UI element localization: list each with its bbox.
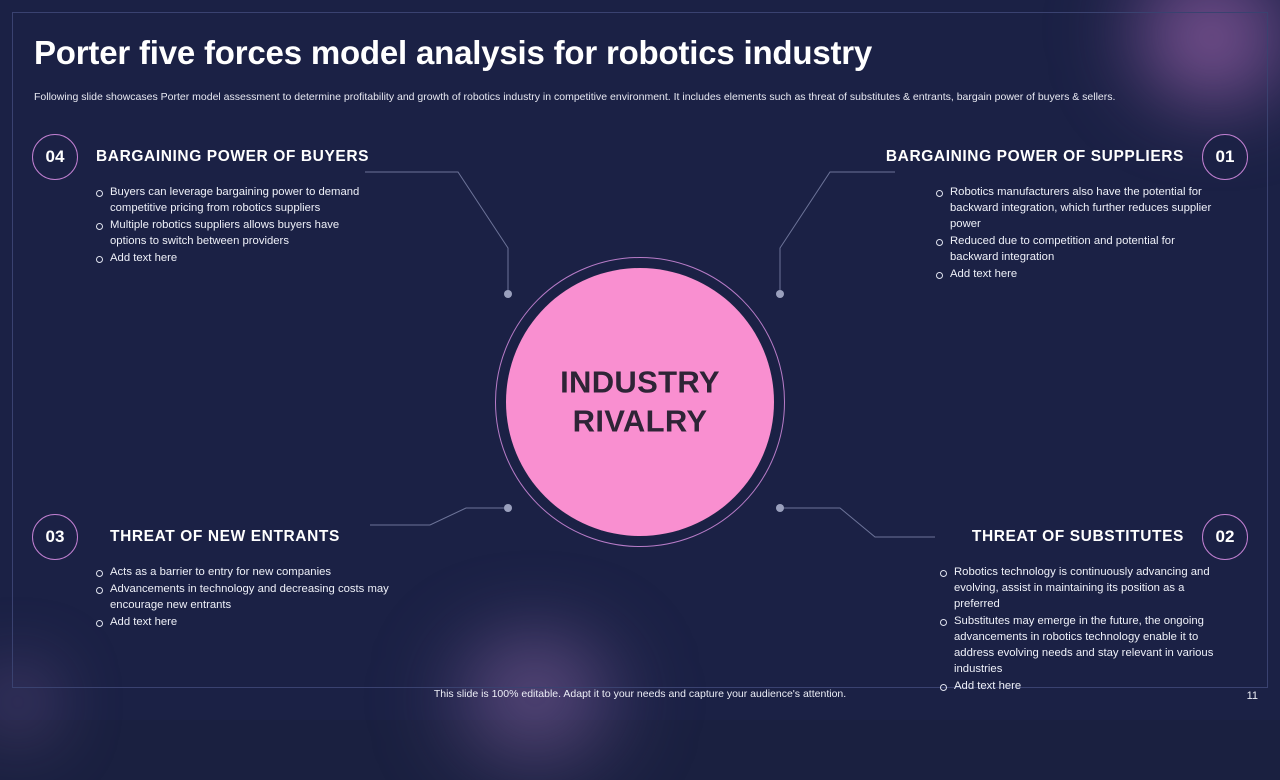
page-subtitle: Following slide showcases Porter model a…: [34, 90, 1224, 104]
badge-buyers: 04: [32, 134, 78, 180]
badge-buyers-number: 04: [46, 147, 65, 167]
list-item: Acts as a barrier to entry for new compa…: [94, 564, 424, 580]
section-title-substitutes: THREAT OF SUBSTITUTES: [972, 528, 1184, 546]
slide-root: Porter five forces model analysis for ro…: [0, 0, 1280, 720]
footer-note: This slide is 100% editable. Adapt it to…: [0, 688, 1280, 700]
badge-substitutes: 02: [1202, 514, 1248, 560]
list-item: Add text here: [934, 266, 1222, 282]
bullet-list-substitutes: Robotics technology is continuously adva…: [938, 564, 1228, 695]
bullet-list-buyers: Buyers can leverage bargaining power to …: [94, 184, 366, 267]
section-title-suppliers: BARGAINING POWER OF SUPPLIERS: [886, 148, 1184, 166]
section-title-buyers: BARGAINING POWER OF BUYERS: [96, 148, 369, 166]
list-item: Robotics manufacturers also have the pot…: [934, 184, 1222, 232]
page-title: Porter five forces model analysis for ro…: [34, 34, 872, 72]
bullet-list-entrants: Acts as a barrier to entry for new compa…: [94, 564, 424, 631]
industry-rivalry-center: INDUSTRY RIVALRY: [495, 257, 785, 547]
page-number: 11: [1247, 690, 1258, 702]
list-item: Buyers can leverage bargaining power to …: [94, 184, 366, 216]
section-title-entrants: THREAT OF NEW ENTRANTS: [110, 528, 340, 546]
list-item: Reduced due to competition and potential…: [934, 233, 1222, 265]
list-item: Add text here: [94, 250, 366, 266]
list-item: Robotics technology is continuously adva…: [938, 564, 1228, 612]
bullet-list-suppliers: Robotics manufacturers also have the pot…: [934, 184, 1222, 283]
badge-entrants: 03: [32, 514, 78, 560]
badge-suppliers-number: 01: [1216, 147, 1235, 167]
list-item: Substitutes may emerge in the future, th…: [938, 613, 1228, 677]
badge-substitutes-number: 02: [1216, 527, 1235, 547]
badge-suppliers: 01: [1202, 134, 1248, 180]
list-item: Advancements in technology and decreasin…: [94, 581, 424, 613]
list-item: Add text here: [94, 614, 424, 630]
badge-entrants-number: 03: [46, 527, 65, 547]
list-item: Multiple robotics suppliers allows buyer…: [94, 217, 366, 249]
center-label: INDUSTRY RIVALRY: [560, 363, 720, 441]
